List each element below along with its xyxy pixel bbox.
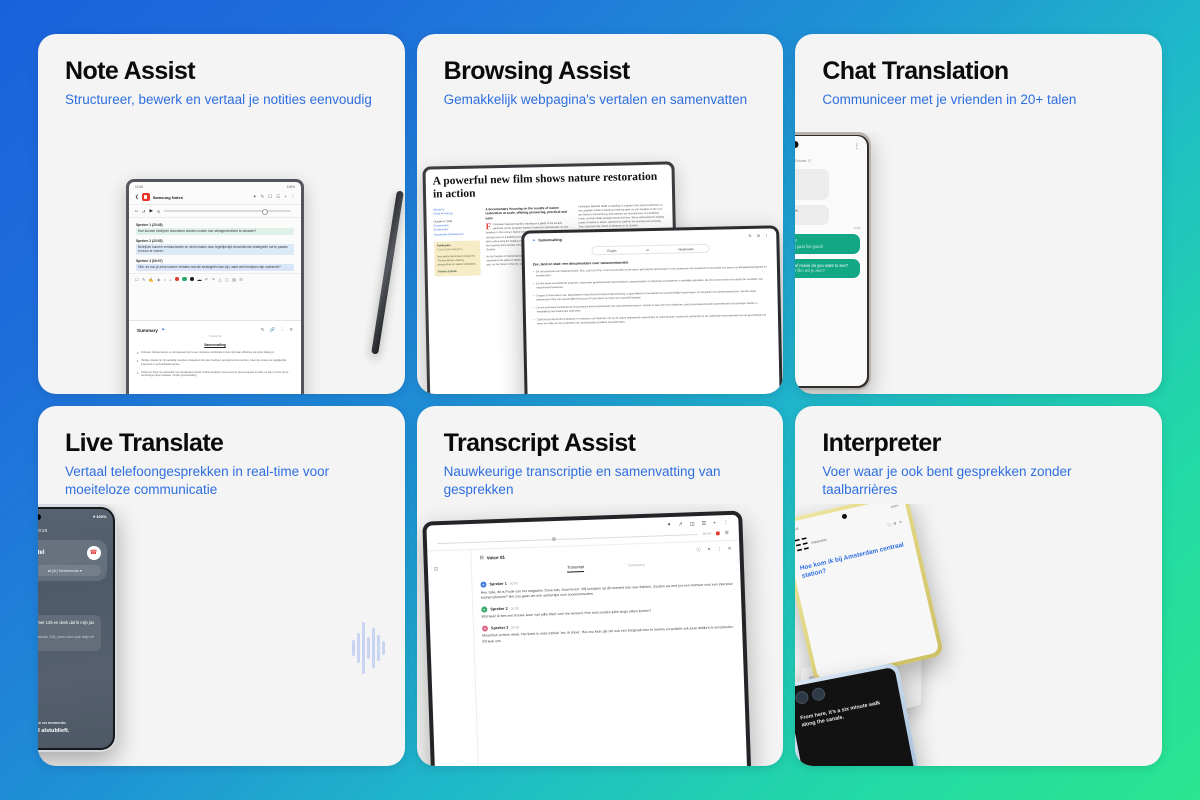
back-icon[interactable]: ❮: [135, 194, 139, 200]
drawing-toolbar[interactable]: ☐ ✎ ✍ ◈ ○ ▵ ▬ ↶ ↷ △ ▢ ▤: [129, 273, 301, 285]
byline-author: Chloe Armstrong: [433, 212, 479, 217]
message-bubble-sent: Yes! What kind of movie do you want to s…: [795, 259, 860, 279]
color-black-swatch[interactable]: [190, 277, 194, 281]
refresh-icon[interactable]: ↻: [749, 234, 752, 238]
message-bubble-sent: Hey Liz, I'm fine! Hey Liz, met mij gaat…: [795, 234, 860, 254]
transcript-pane: ▤ Voice 01 ⓘ ✦ ⋮ ✕ Transcript: [471, 541, 747, 766]
avatar: ●: [481, 606, 487, 612]
transcript-text: Bedrijven kunnen verduurzamen en winst m…: [136, 244, 294, 255]
article-body: Filmmaker Mairead Cahill is standing in …: [578, 203, 665, 230]
speaker-label: Spreker 1 (23:45): [136, 223, 294, 227]
shape-icon[interactable]: ▵: [169, 277, 171, 282]
translation-bubble: Hallo, Ik verbleef gisteren in kamer 125…: [38, 615, 101, 652]
device-screen: ✦ Samenvatting ↻ ⇲ ⋮ Engels ⇄ Nederlands: [525, 228, 781, 394]
call-control-card: ↤ Hotel ☎ Spaans ▾ ⇄ (Ik) Nederlands ▾: [38, 540, 107, 581]
note-icon[interactable]: ☰: [701, 521, 706, 527]
device-screen: 12:45 100% ☷ Interpreter ☐ ⚙ ↻: [795, 504, 939, 680]
image-icon[interactable]: ▢: [225, 277, 229, 282]
publication-sub: Trodos Bank Magazine: [437, 248, 477, 253]
article-headline: A powerful new film shows nature restora…: [432, 171, 664, 202]
feature-card-grid: Note Assist Structureer, bewerk en verta…: [0, 0, 1200, 800]
summary-heading: Samenvatting: [137, 343, 293, 347]
refresh-icon[interactable]: ↻: [261, 327, 265, 333]
ai-sparkle-icon[interactable]: ✦: [253, 194, 257, 200]
message-translated: Jaaaa! Wat voor film wil je zien?: [795, 268, 855, 274]
ai-summary-icon[interactable]: ✦: [707, 547, 711, 553]
avatar: ●: [482, 625, 488, 631]
recorder-body: ◫ ▤ Voice 01 ⓘ ✦ ⋮ ✕: [427, 541, 747, 766]
message-translated: Wil je vanavond naar de film?: [795, 215, 824, 221]
page-title: Transcript Assist: [417, 406, 784, 456]
page-title: Interpreter: [795, 406, 1162, 456]
app-bar: ❮ Samsung Notes ✦ ✎ ☐ ☷ + ⋮: [129, 189, 301, 204]
page-title: Live Translate: [38, 406, 405, 456]
tab-transcript[interactable]: Transcript: [567, 564, 584, 573]
app-title: Samsung Notes: [153, 195, 183, 200]
lasso-icon[interactable]: ○: [164, 277, 166, 282]
call-controls-row: ↤ Hotel ☎: [38, 546, 101, 560]
transcript-entry: Spreker 1 (23:45) Hoe kunnen bedrijven d…: [136, 223, 294, 235]
card-chat-translation[interactable]: Chat Translation Communiceer met je vrie…: [795, 34, 1162, 394]
speaker-label: Spreker 3: [491, 626, 508, 631]
summary-bullet: Huidige situatie: Er zijn gelukkig meerd…: [137, 359, 293, 367]
publication-text: New article has impact created by Thomas…: [437, 254, 477, 266]
summary-title: Zee, land en stad: een documentaire over…: [533, 258, 769, 267]
summary-bullet: Toekomst: Door het aanstellen van 'desig…: [137, 371, 293, 379]
summary-bullet: Oorzaak: Verduurzamen en winstgevend zij…: [137, 351, 293, 355]
ai-sparkle-icon[interactable]: ✦: [667, 522, 672, 528]
card-subtitle: Communiceer met je vrienden in 20+ talen: [795, 84, 1136, 108]
fullscreen-icon[interactable]: ☐: [888, 523, 892, 528]
tablet-device: ✦ ↗ ◫ ☰ + ⋮ 00:10 ☰: [422, 511, 752, 766]
tablet-summary-device: ✦ Samenvatting ↻ ⇲ ⋮ Engels ⇄ Nederlands: [521, 225, 783, 394]
message-original: Hi Sam, How are you?: [795, 173, 824, 185]
overflow-icon[interactable]: ⋮: [280, 327, 284, 333]
transcript-tabs[interactable]: Transcript Summary: [480, 559, 732, 576]
card-subtitle: Nauwkeurige transcriptie en samenvatting…: [417, 456, 758, 498]
source-language[interactable]: Engels: [608, 248, 617, 252]
speaker-label: Spreker 1: [489, 582, 506, 587]
page-title: Chat Translation: [795, 34, 1162, 84]
target-language[interactable]: Nederlands: [679, 247, 694, 251]
card-live-translate[interactable]: Live Translate Vertaal telefoongesprekke…: [38, 406, 405, 766]
reply-block: Por favor, espere un momento. Even gedul…: [38, 720, 113, 734]
summary-bullet: De documentaire benadrukt de economische…: [534, 301, 770, 314]
device-body: 12:45 100% ☷ Interpreter ☐ ⚙ ↻: [795, 504, 944, 685]
file-actions[interactable]: ⓘ ✦ ⋮ ✕: [696, 546, 731, 553]
reply-translated: Even geduld alstublieft.: [38, 728, 113, 734]
text-icon[interactable]: △: [218, 277, 221, 282]
color-green-swatch[interactable]: [182, 277, 186, 281]
history-icon[interactable]: ↻: [899, 520, 903, 525]
transcript-text: Hoe kunnen bedrijven duurzamer worden zo…: [136, 228, 294, 235]
s-pen-stylus: [371, 190, 404, 354]
message-bubble-received: Wanna go see a movie tonight? ^^ Wil je …: [795, 205, 829, 225]
device-bezel: 12:45 ▾ 100% ☎ 00:26 ↤ Hotel ☎: [38, 507, 115, 750]
summary-tab-label[interactable]: Samenvatting: [539, 238, 563, 242]
ai-sparkle-icon: ✦: [161, 327, 165, 333]
original-text: ¿Hola? Ayer me quedé en la habitación 12…: [38, 635, 95, 646]
camera-lenses: [795, 687, 826, 705]
play-icon[interactable]: ▶: [150, 208, 154, 214]
target-language-select[interactable]: ⇄ (Ik) Nederlands ▾: [48, 568, 82, 573]
rewind-icon[interactable]: ↺: [142, 209, 145, 214]
publication-name: Triodos @ Bank: [437, 269, 477, 274]
list-icon[interactable]: ☰: [724, 530, 728, 536]
app-bar-icons[interactable]: ☐ ⚙ ↻: [888, 520, 903, 527]
article-lead: A documentary focusing on the results of…: [485, 205, 572, 220]
status-bar: 12:45 ▾ 100%: [38, 514, 107, 519]
card-note-assist[interactable]: Note Assist Structureer, bewerk en verta…: [38, 34, 405, 394]
status-time: 12:45: [135, 185, 143, 189]
color-red-swatch[interactable]: [175, 277, 179, 281]
transcript-list: Spreker 1 (23:45) Hoe kunnen bedrijven d…: [129, 218, 301, 273]
audio-waveform-right: [352, 622, 385, 674]
device-screen: 12:45 ▾ 100% ☎ 00:26 ↤ Hotel ☎: [38, 509, 113, 748]
overflow-icon[interactable]: ⋮: [854, 143, 861, 150]
card-subtitle: Vertaal telefoongesprekken in real-time …: [38, 456, 379, 498]
device-screen: 12:45 100% ❮ Samsung Notes ✦ ✎ ☐ ☷ +: [129, 182, 301, 394]
ai-sparkle-icon: ✦: [533, 238, 536, 242]
pen-tool-icon[interactable]: ✎: [142, 277, 145, 282]
speaker-label: Spreker 2 (23:53): [136, 239, 294, 243]
transcript-text: Oké, en zou je eens kunnen vertalen wat …: [136, 264, 294, 271]
phone-device: ❮ L Liz ▾ ⋮ Thursday, October 17 Hi Sam,…: [795, 132, 871, 390]
device-screen: ❮ L Liz ▾ ⋮ Thursday, October 17 Hi Sam,…: [795, 136, 867, 386]
status-battery: ▾ 100%: [93, 514, 106, 519]
device-screen: ✦ ↗ ◫ ☰ + ⋮ 00:10 ☰: [426, 515, 747, 766]
foldable-tablet-device: 12:45 100% ❮ Samsung Notes ✦ ✎ ☐ ☷ +: [126, 179, 304, 394]
summary-tab-label[interactable]: Transcript: [137, 334, 293, 338]
forward-icon[interactable]: ↻: [157, 209, 160, 214]
speaker-label: Spreker 2: [490, 606, 507, 611]
add-icon[interactable]: +: [284, 194, 287, 200]
status-time: 12:45: [795, 527, 799, 533]
chat-header: ❮ L Liz ▾ ⋮: [795, 142, 860, 151]
swap-languages-icon[interactable]: ⇄: [646, 248, 649, 252]
thickness-icon[interactable]: ▬: [198, 277, 202, 282]
chat-translation-stage: ❮ L Liz ▾ ⋮ Thursday, October 17 Hi Sam,…: [795, 132, 1162, 394]
summary-bullet: De film bevat verschillende projecten, w…: [534, 277, 770, 290]
language-switcher[interactable]: Engels ⇄ Nederlands: [592, 244, 710, 255]
article-meta: Words by Chloe Armstrong October 4, 2024…: [433, 207, 480, 277]
link-icon[interactable]: 🔗: [269, 327, 274, 333]
message-translated: Hoi Sam, Hoe gaat het?: [795, 185, 824, 197]
overflow-icon[interactable]: ⋮: [291, 194, 295, 200]
speaker-time: 00:30: [510, 606, 518, 610]
reply-original: Por favor, espere un momento.: [38, 720, 113, 725]
interpreter-icon: ☷: [795, 534, 811, 557]
speaker-label: Spreker 3 (00:07): [136, 259, 294, 263]
add-icon[interactable]: +: [713, 520, 716, 526]
transcript-entry: Spreker 2 (23:53) Bedrijven kunnen verdu…: [136, 239, 294, 255]
browsing-assist-stage: A powerful new film shows nature restora…: [417, 132, 784, 394]
close-icon[interactable]: ✕: [289, 327, 293, 333]
card-subtitle: Structureer, bewerk en vertaal je notiti…: [38, 84, 379, 108]
summary-panel: Summary ✦ ↻ 🔗 ⋮ ✕ Transcript Samenvattin…: [129, 320, 301, 394]
summary-actions[interactable]: ↻ 🔗 ⋮ ✕: [261, 327, 293, 333]
app-title: Interpreter: [811, 538, 827, 545]
camera-punch-hole: [38, 514, 41, 520]
answer-english: From here, it's a six minute walk along …: [800, 698, 895, 730]
transcript-entry: ● Spreker 3 00:35 Misschien al deze week…: [482, 617, 735, 645]
table-icon[interactable]: ▤: [232, 277, 236, 282]
info-icon[interactable]: ⓘ: [696, 547, 701, 553]
contact-name: Hotel: [38, 550, 87, 556]
drop-cap: F: [485, 223, 491, 231]
message-bubble-received: Hi Sam, How are you? Hoi Sam, Hoe gaat h…: [795, 169, 829, 200]
eraser-icon[interactable]: ◈: [157, 277, 160, 282]
overflow-icon[interactable]: ⋮: [723, 520, 728, 526]
page-title: Note Assist: [38, 34, 405, 84]
status-battery: 100%: [891, 504, 899, 509]
end-call-button[interactable]: ☎: [87, 546, 101, 560]
language-selector-row[interactable]: Spaans ▾ ⇄ (Ik) Nederlands ▾: [38, 565, 101, 576]
book-icon[interactable]: ☷: [276, 194, 280, 200]
pen-icon[interactable]: ✎: [260, 194, 264, 200]
speaker-time: 00:35: [511, 625, 519, 629]
file-icon: ▤: [479, 555, 483, 561]
card-subtitle: Voer waar je ook bent gesprekken zonder …: [795, 456, 1136, 498]
redo-icon[interactable]: ↷: [212, 277, 215, 282]
interpreter-stage: How do I get to Amsterdam Central Statio…: [795, 504, 1162, 766]
transcript-entry: ● Spreker 1 00:00 Hee Julia, dit is Fran…: [480, 573, 733, 601]
file-name: Voice 01: [486, 554, 504, 560]
settings-icon[interactable]: ⚙: [893, 521, 897, 526]
date-divider: Thursday, October 17: [795, 159, 860, 163]
avatar: ●: [480, 581, 486, 587]
highlighter-icon[interactable]: ✍: [149, 277, 154, 282]
summary-bullet: De documentaire van Mairead Cahill, 'Sea…: [533, 266, 769, 279]
speaker-time: 00:00: [509, 581, 517, 585]
message-timestamp: 15:54: [795, 227, 860, 230]
translated-text: Hallo, Ik verbleef gisteren in kamer 125…: [38, 620, 95, 632]
call-duration: ☎ 00:26: [38, 528, 107, 534]
message-translated: Hey Liz, met mij gaat het goed!: [795, 244, 855, 250]
more-tools-icon[interactable]: ☷: [239, 277, 243, 282]
status-bar: 12:45 100%: [129, 182, 301, 189]
audio-progress-slider[interactable]: [164, 210, 291, 211]
phone-device: 12:45 ▾ 100% ☎ 00:26 ↤ Hotel ☎: [38, 504, 117, 752]
overflow-icon[interactable]: ⋮: [765, 234, 769, 238]
card-transcript-assist[interactable]: Transcript Assist Nauwkeurige transcript…: [417, 406, 784, 766]
record-icon[interactable]: [716, 531, 720, 535]
card-subtitle: Gemakkelijk webpagina's vertalen en same…: [417, 84, 758, 108]
samsung-notes-icon: [142, 193, 150, 201]
summary-bullet: Cahill hoopt dat de film individuen en b…: [534, 313, 770, 326]
summary-actions[interactable]: ↻ ⇲ ⋮: [749, 234, 769, 238]
summary-bullet: Oxygen Conservation, een kwantitatieve n…: [534, 289, 770, 302]
article-topic[interactable]: Sustainable Development: [433, 232, 479, 237]
swap-icon: ⇄: [48, 568, 51, 573]
status-battery: 100%: [287, 185, 295, 189]
collapse-icon[interactable]: ⇲: [757, 234, 760, 238]
split-view-icon[interactable]: ◫: [689, 521, 694, 527]
overflow-icon[interactable]: ⋮: [716, 546, 721, 552]
card-browsing-assist[interactable]: Browsing Assist Gemakkelijk webpagina's …: [417, 34, 784, 394]
flip-phone-yellow: 12:45 100% ☷ Interpreter ☐ ⚙ ↻: [795, 504, 944, 685]
device-bezel: ❮ L Liz ▾ ⋮ Thursday, October 17 Hi Sam,…: [795, 135, 869, 388]
note-icon[interactable]: ☐: [268, 194, 272, 200]
select-icon[interactable]: ☐: [135, 277, 139, 282]
summary-header: Summary ✦ ↻ 🔗 ⋮ ✕: [137, 327, 293, 333]
undo-icon[interactable]: ↶: [205, 277, 208, 282]
expand-icon[interactable]: ↗: [678, 522, 683, 528]
live-translate-stage: 12:45 ▾ 100% ☎ 00:26 ↤ Hotel ☎: [38, 504, 405, 766]
chevron-down-icon: ▾: [80, 568, 82, 573]
transcript-assist-stage: ✦ ↗ ◫ ☰ + ⋮ 00:10 ☰: [417, 504, 784, 766]
speed-label[interactable]: 1x: [135, 209, 138, 213]
elapsed-time: 00:10: [702, 532, 711, 536]
tab-summary[interactable]: Summary: [628, 562, 645, 571]
close-icon[interactable]: ✕: [727, 546, 731, 552]
notes-icon[interactable]: ◫: [433, 566, 437, 571]
page-title: Browsing Assist: [417, 34, 784, 84]
app-bar-icons[interactable]: ✦ ✎ ☐ ☷ + ⋮: [253, 194, 295, 200]
card-interpreter[interactable]: Interpreter Voer waar je ook bent gespre…: [795, 406, 1162, 766]
summary-title: Summary: [137, 328, 158, 333]
note-assist-stage: 12:45 100% ❮ Samsung Notes ✦ ✎ ☐ ☷ +: [38, 132, 405, 394]
publication-box: Publication Trodos Bank Magazine New art…: [434, 241, 481, 277]
wifi-icon: ▾: [93, 514, 95, 519]
summary-header: ✦ Samenvatting ↻ ⇲ ⋮: [533, 234, 769, 243]
file-header: ▤ Voice 01 ⓘ ✦ ⋮ ✕: [479, 546, 731, 561]
audio-player[interactable]: 1x ↺ ▶ ↻ ​: [129, 204, 301, 218]
transcript-entry: Spreker 3 (00:07) Oké, en zou je eens ku…: [136, 259, 294, 271]
